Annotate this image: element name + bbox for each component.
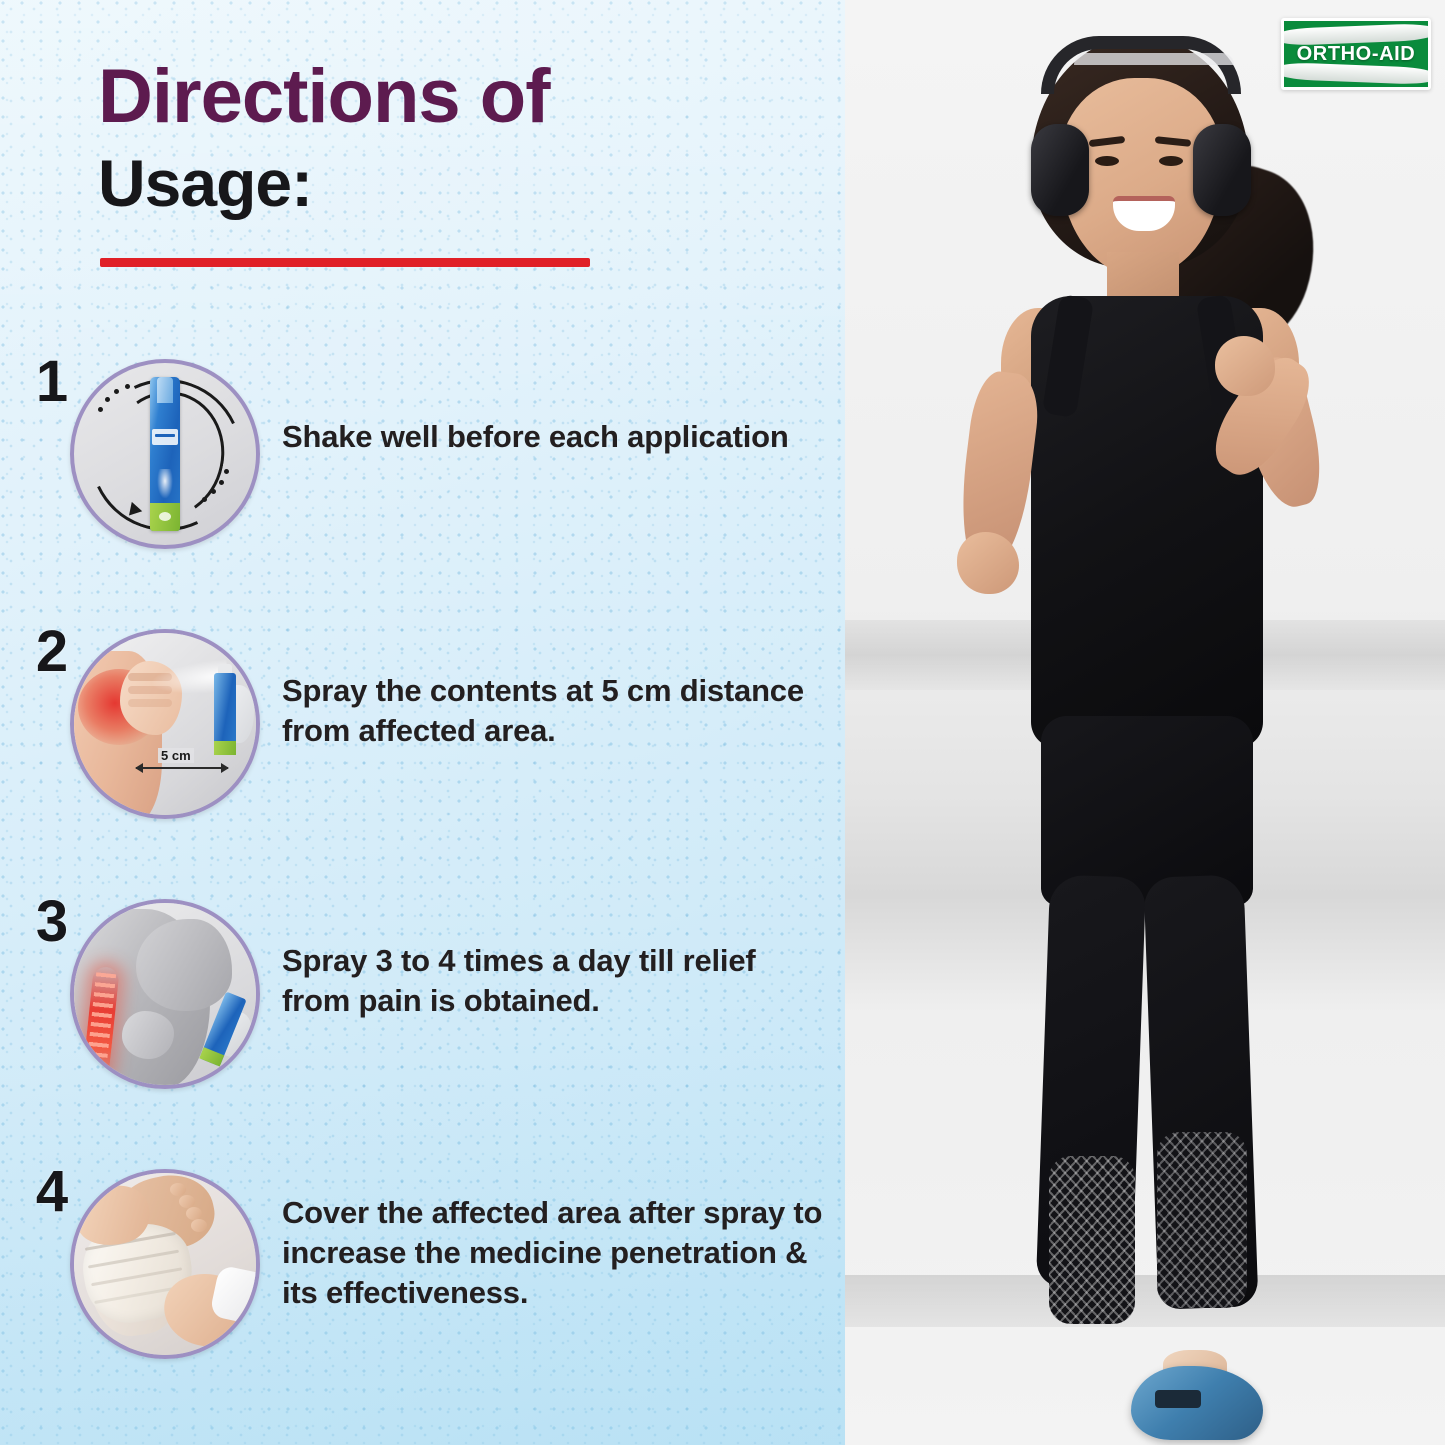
product-can-icon [214, 673, 236, 755]
step-description: Spray 3 to 4 times a day till relief fro… [282, 941, 830, 1021]
title-line-directions: Directions of [98, 56, 550, 138]
logo-wordmark: ORTHO-AID [1297, 43, 1416, 66]
step-number: 4 [26, 1163, 78, 1221]
list-item: 3 Spray 3 to 4 times a day till relief f… [0, 885, 845, 1155]
mesh-panel-right [1157, 1132, 1247, 1308]
raised-arm-shape [136, 919, 232, 1011]
can-figure-graphic [157, 469, 173, 499]
shoulder-spray-illustration: 5 cm [70, 629, 260, 819]
model-figure [845, 0, 1445, 1445]
title-line-usage: Usage: [98, 146, 550, 220]
headphone-earcup-right [1193, 124, 1251, 216]
distance-label: 5 cm [158, 748, 194, 763]
step-number: 1 [26, 353, 78, 411]
fist-right [1215, 336, 1275, 396]
list-item: 1 [0, 345, 845, 615]
can-label [152, 429, 178, 445]
headphone-earcup-left [1031, 124, 1089, 216]
step-description: Cover the affected area after spray to i… [282, 1193, 830, 1313]
directions-of-usage-poster: Directions of Usage: 1 [0, 0, 1445, 1445]
blue-running-shoe [1131, 1366, 1263, 1440]
list-item: 2 5 cm Spray the contents at 5 cm distan… [0, 615, 845, 885]
can-cap [157, 377, 173, 403]
eye-left [1095, 156, 1119, 166]
step-number: 2 [26, 623, 78, 681]
page-title: Directions of Usage: [98, 56, 550, 220]
mesh-panel-left [1049, 1156, 1135, 1324]
hand-on-lower-back [122, 1011, 174, 1059]
bandage-foot-illustration [70, 1169, 260, 1359]
step-number: 3 [26, 893, 78, 951]
step-description: Spray the contents at 5 cm distance from… [282, 671, 830, 751]
brand-logo: ORTHO-AID [1281, 18, 1431, 90]
list-item: 4 Cover the affected area after spray to… [0, 1155, 845, 1425]
headphones-headband-icon [1041, 36, 1241, 94]
title-underline-rule [100, 258, 590, 267]
toes-group [170, 1183, 214, 1235]
shake-spray-can-illustration [70, 359, 260, 549]
distance-dimension-arrow [136, 767, 228, 769]
step-description: Shake well before each application [282, 417, 830, 457]
product-can-icon [150, 377, 180, 531]
steps-list: 1 [0, 345, 845, 1425]
eye-right [1159, 156, 1183, 166]
can-base [150, 503, 180, 531]
woman-jogging-with-headphones-photo [845, 0, 1445, 1445]
back-pain-spray-illustration [70, 899, 260, 1089]
